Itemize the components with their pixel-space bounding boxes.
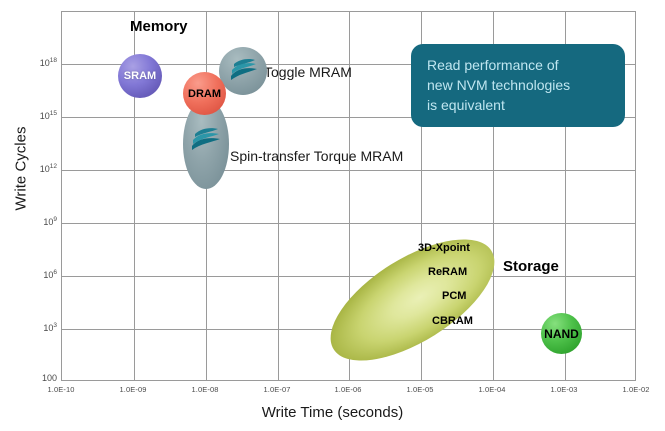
x-tick-label: 1.0E-09 (120, 385, 147, 394)
x-tick-label: 1.0E-08 (192, 385, 219, 394)
x-tick-label: 1.0E-02 (623, 385, 650, 394)
series-label-toggle-mram: Toggle MRAM (264, 64, 352, 80)
series-label-spin-transfer-torque-mram: Spin-transfer Torque MRAM (230, 148, 403, 164)
cluster-member-label: 3D-Xpoint (418, 242, 470, 254)
data-point-label: NAND (544, 327, 579, 341)
x-tick-label: 1.0E-04 (479, 385, 506, 394)
data-point-label: SRAM (124, 70, 156, 82)
y-tick-label: 103 (5, 323, 57, 333)
gridline-vertical (206, 12, 207, 380)
callout-line: new NVM technologies (427, 75, 609, 95)
y-tick-label: 100 (5, 373, 57, 383)
group-heading-memory: Memory (130, 18, 188, 35)
x-tick-label: 1.0E-07 (264, 385, 291, 394)
data-point-sram: SRAM (118, 54, 162, 98)
layers-stack-icon (190, 126, 222, 156)
layers-stack-icon (229, 57, 259, 85)
chart-figure: 1018 1015 1012 109 106 103 100 1.0E-10 1… (0, 0, 665, 431)
x-tick-label: 1.0E-05 (407, 385, 434, 394)
annotation-callout-read-performance: Read performance of new NVM technologies… (411, 44, 625, 127)
callout-line: Read performance of (427, 55, 609, 75)
cluster-member-label: CBRAM (432, 315, 473, 327)
data-point-dram: DRAM (183, 72, 226, 115)
group-heading-storage: Storage (503, 258, 559, 275)
cluster-member-label: ReRAM (428, 266, 467, 278)
y-axis-title: Write Cycles (13, 114, 30, 224)
x-tick-label: 1.0E-10 (48, 385, 75, 394)
callout-line: is equivalent (427, 95, 609, 115)
cluster-member-label: PCM (442, 290, 466, 302)
y-tick-label: 1018 (5, 58, 57, 68)
y-tick-label: 106 (5, 270, 57, 280)
x-tick-label: 1.0E-06 (335, 385, 362, 394)
data-point-label: DRAM (188, 88, 221, 100)
data-point-nand: NAND (541, 313, 582, 354)
x-axis-title: Write Time (seconds) (0, 404, 665, 421)
x-tick-label: 1.0E-03 (551, 385, 578, 394)
